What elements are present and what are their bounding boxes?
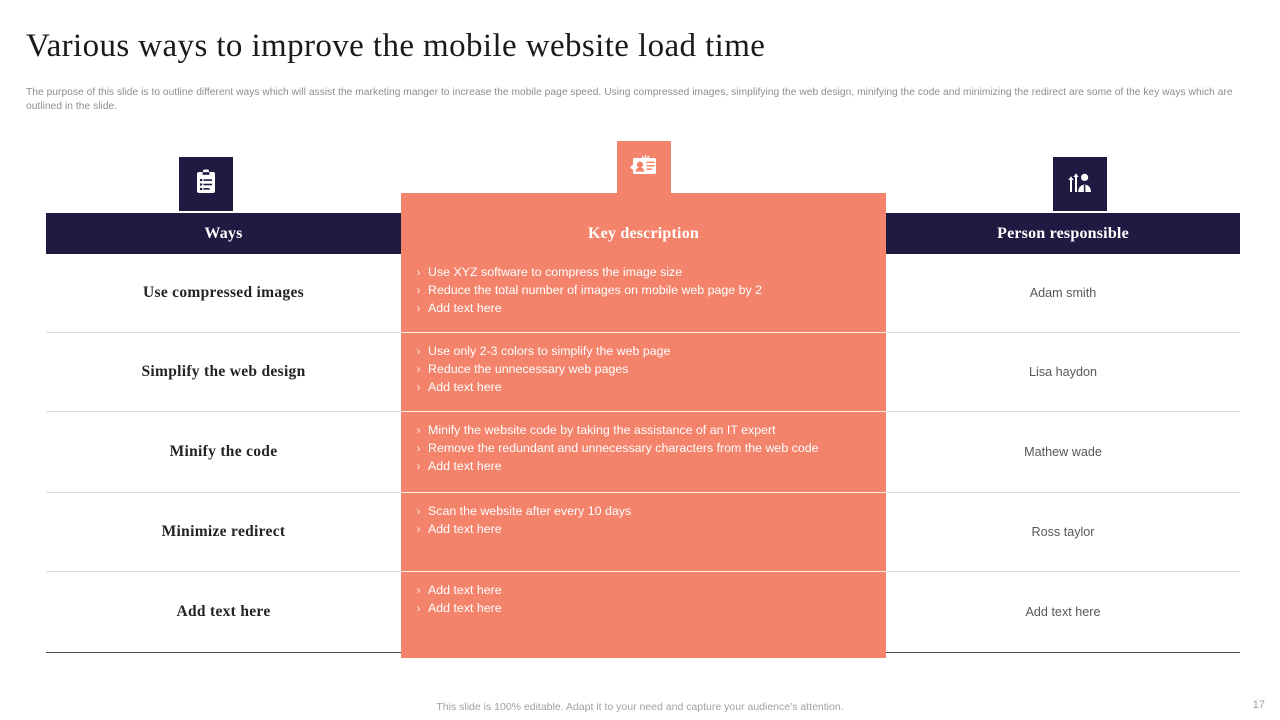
cell-person: Lisa haydon [886, 333, 1240, 412]
bullet-text: Scan the website after every 10 days [428, 503, 874, 521]
person-responsible-icon-badge [1053, 157, 1107, 211]
list-item: › Remove the redundant and unnecessary c… [409, 440, 874, 458]
bullet-text: Reduce the total number of images on mob… [428, 282, 874, 300]
slide-subtitle: The purpose of this slide is to outline … [26, 86, 1242, 114]
key-description-icon-badge [617, 141, 671, 195]
bullet-text: Add text here [428, 582, 874, 600]
column-header-person-responsible: Person responsible [886, 213, 1240, 254]
list-item: › Minify the website code by taking the … [409, 422, 874, 440]
bullet-text: Remove the redundant and unnecessary cha… [428, 440, 874, 458]
person-label: Add text here [1026, 605, 1101, 619]
bullet-list: › Minify the website code by taking the … [409, 422, 874, 476]
way-label: Add text here [176, 603, 270, 621]
cell-person: Mathew wade [886, 412, 1240, 493]
cell-person: Add text here [886, 572, 1240, 653]
list-item: › Use XYZ software to compress the image… [409, 264, 874, 282]
way-label: Simplify the web design [141, 363, 305, 381]
cell-person: Adam smith [886, 254, 1240, 333]
chevron-right-icon: › [409, 422, 428, 440]
cell-way: Use compressed images [46, 254, 401, 333]
person-growth-chart-icon [1065, 168, 1095, 201]
page-number: 17 [1253, 699, 1265, 711]
chevron-right-icon: › [409, 300, 428, 318]
cell-way: Simplify the web design [46, 333, 401, 412]
bullet-list: › Use XYZ software to compress the image… [409, 264, 874, 318]
bullet-text: Add text here [428, 521, 874, 539]
column-header-key-description: Key description [401, 213, 886, 254]
cell-way: Add text here [46, 572, 401, 653]
person-label: Mathew wade [1024, 445, 1102, 459]
way-label: Use compressed images [143, 284, 304, 302]
chevron-right-icon: › [409, 503, 428, 521]
footer-note: This slide is 100% editable. Adapt it to… [0, 701, 1280, 713]
list-item: › Add text here [409, 600, 874, 618]
list-item: › Add text here [409, 521, 874, 539]
chevron-right-icon: › [409, 361, 428, 379]
ways-table: Ways Key description Person responsible … [46, 213, 1240, 653]
chevron-right-icon: › [409, 264, 428, 282]
bullet-list: › Add text here › Add text here [409, 582, 874, 618]
chevron-right-icon: › [409, 582, 428, 600]
way-label: Minify the code [170, 443, 278, 461]
bullet-text: Add text here [428, 458, 874, 476]
chevron-right-icon: › [409, 343, 428, 361]
bullet-list: › Scan the website after every 10 days ›… [409, 503, 874, 539]
list-item: › Use only 2-3 colors to simplify the we… [409, 343, 874, 361]
person-label: Lisa haydon [1029, 365, 1097, 379]
chevron-right-icon: › [409, 521, 428, 539]
table-row: Add text here › Add text here › Add text… [46, 572, 1240, 653]
cell-way: Minimize redirect [46, 493, 401, 572]
way-label: Minimize redirect [162, 523, 286, 541]
chevron-right-icon: › [409, 379, 428, 397]
bullet-text: Add text here [428, 300, 874, 318]
bullet-text: Use XYZ software to compress the image s… [428, 264, 874, 282]
bullet-text: Add text here [428, 379, 874, 397]
bullet-text: Minify the website code by taking the as… [428, 422, 874, 440]
table-header-row: Ways Key description Person responsible [46, 213, 1240, 254]
table-row: Simplify the web design › Use only 2-3 c… [46, 333, 1240, 412]
list-item: › Add text here [409, 458, 874, 476]
list-item: › Add text here [409, 582, 874, 600]
table-row: Use compressed images › Use XYZ software… [46, 254, 1240, 333]
table-row: Minify the code › Minify the website cod… [46, 412, 1240, 493]
list-item: › Add text here [409, 300, 874, 318]
cell-key-description: › Scan the website after every 10 days ›… [401, 493, 886, 572]
list-item: › Scan the website after every 10 days [409, 503, 874, 521]
cell-key-description: › Use only 2-3 colors to simplify the we… [401, 333, 886, 412]
id-card-icon [629, 152, 659, 185]
chevron-right-icon: › [409, 282, 428, 300]
person-label: Adam smith [1030, 286, 1097, 300]
page-title: Various ways to improve the mobile websi… [26, 28, 765, 65]
table-row: Minimize redirect › Scan the website aft… [46, 493, 1240, 572]
list-item: › Add text here [409, 379, 874, 397]
bullet-text: Add text here [428, 600, 874, 618]
cell-key-description: › Minify the website code by taking the … [401, 412, 886, 493]
list-item: › Reduce the total number of images on m… [409, 282, 874, 300]
chevron-right-icon: › [409, 440, 428, 458]
chevron-right-icon: › [409, 600, 428, 618]
cell-way: Minify the code [46, 412, 401, 493]
cell-person: Ross taylor [886, 493, 1240, 572]
bullet-text: Use only 2-3 colors to simplify the web … [428, 343, 874, 361]
person-label: Ross taylor [1032, 525, 1095, 539]
cell-key-description: › Use XYZ software to compress the image… [401, 254, 886, 333]
bullet-text: Reduce the unnecessary web pages [428, 361, 874, 379]
column-header-ways: Ways [46, 213, 401, 254]
cell-key-description: › Add text here › Add text here [401, 572, 886, 653]
chevron-right-icon: › [409, 458, 428, 476]
list-item: › Reduce the unnecessary web pages [409, 361, 874, 379]
bullet-list: › Use only 2-3 colors to simplify the we… [409, 343, 874, 397]
clipboard-list-icon [192, 168, 220, 201]
ways-icon-badge [179, 157, 233, 211]
